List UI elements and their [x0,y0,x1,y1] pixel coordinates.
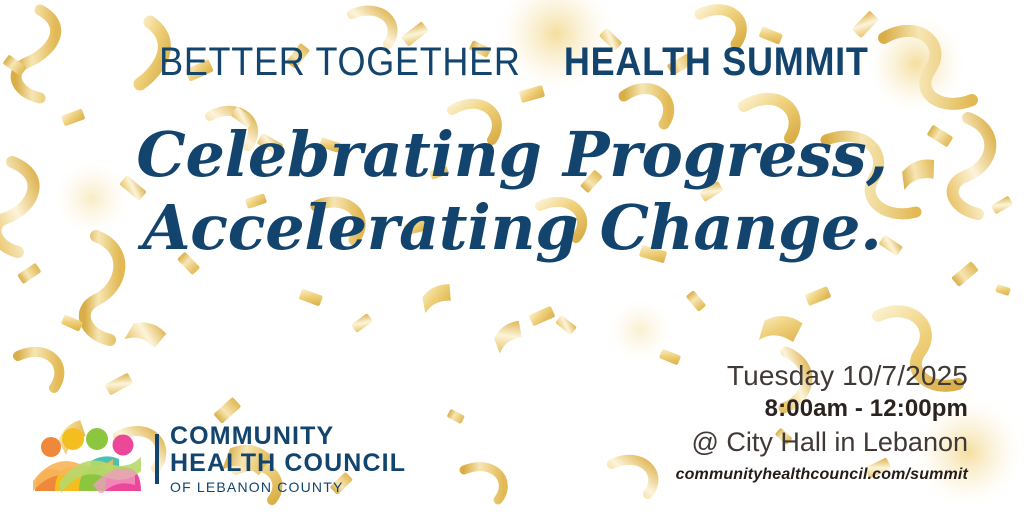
logo-line-1: COMMUNITY [170,424,406,449]
headline-light-part: BETTER TOGETHER [159,42,521,82]
event-location: @ City Hall in Lebanon [676,425,968,460]
event-time: 8:00am - 12:00pm [676,393,968,425]
people-group-icon [33,425,151,493]
logo-line-3: OF LEBANON COUNTY [170,480,406,494]
headline-bold-part: HEALTH SUMMIT [564,42,869,82]
event-details: Tuesday 10/7/2025 8:00am - 12:00pm @ Cit… [676,358,968,487]
logo-line-2: HEALTH COUNCIL [170,451,406,476]
tagline-line-2: Accelerating Change. [0,191,1024,264]
summit-tagline: Celebrating Progress, Accelerating Chang… [0,118,1024,264]
summit-headline: BETTER TOGETHERHEALTH SUMMIT [0,42,1024,82]
summit-poster: BETTER TOGETHERHEALTH SUMMIT Celebrating… [0,0,1024,512]
event-date: Tuesday 10/7/2025 [676,358,968,393]
event-url[interactable]: communityhealthcouncil.com/summit [676,463,968,487]
community-health-council-logo[interactable]: COMMUNITY HEALTH COUNCIL OF LEBANON COUN… [33,424,406,494]
logo-wordmark: COMMUNITY HEALTH COUNCIL OF LEBANON COUN… [170,424,406,494]
tagline-line-1: Celebrating Progress, [0,118,1024,191]
logo-divider [155,434,159,484]
